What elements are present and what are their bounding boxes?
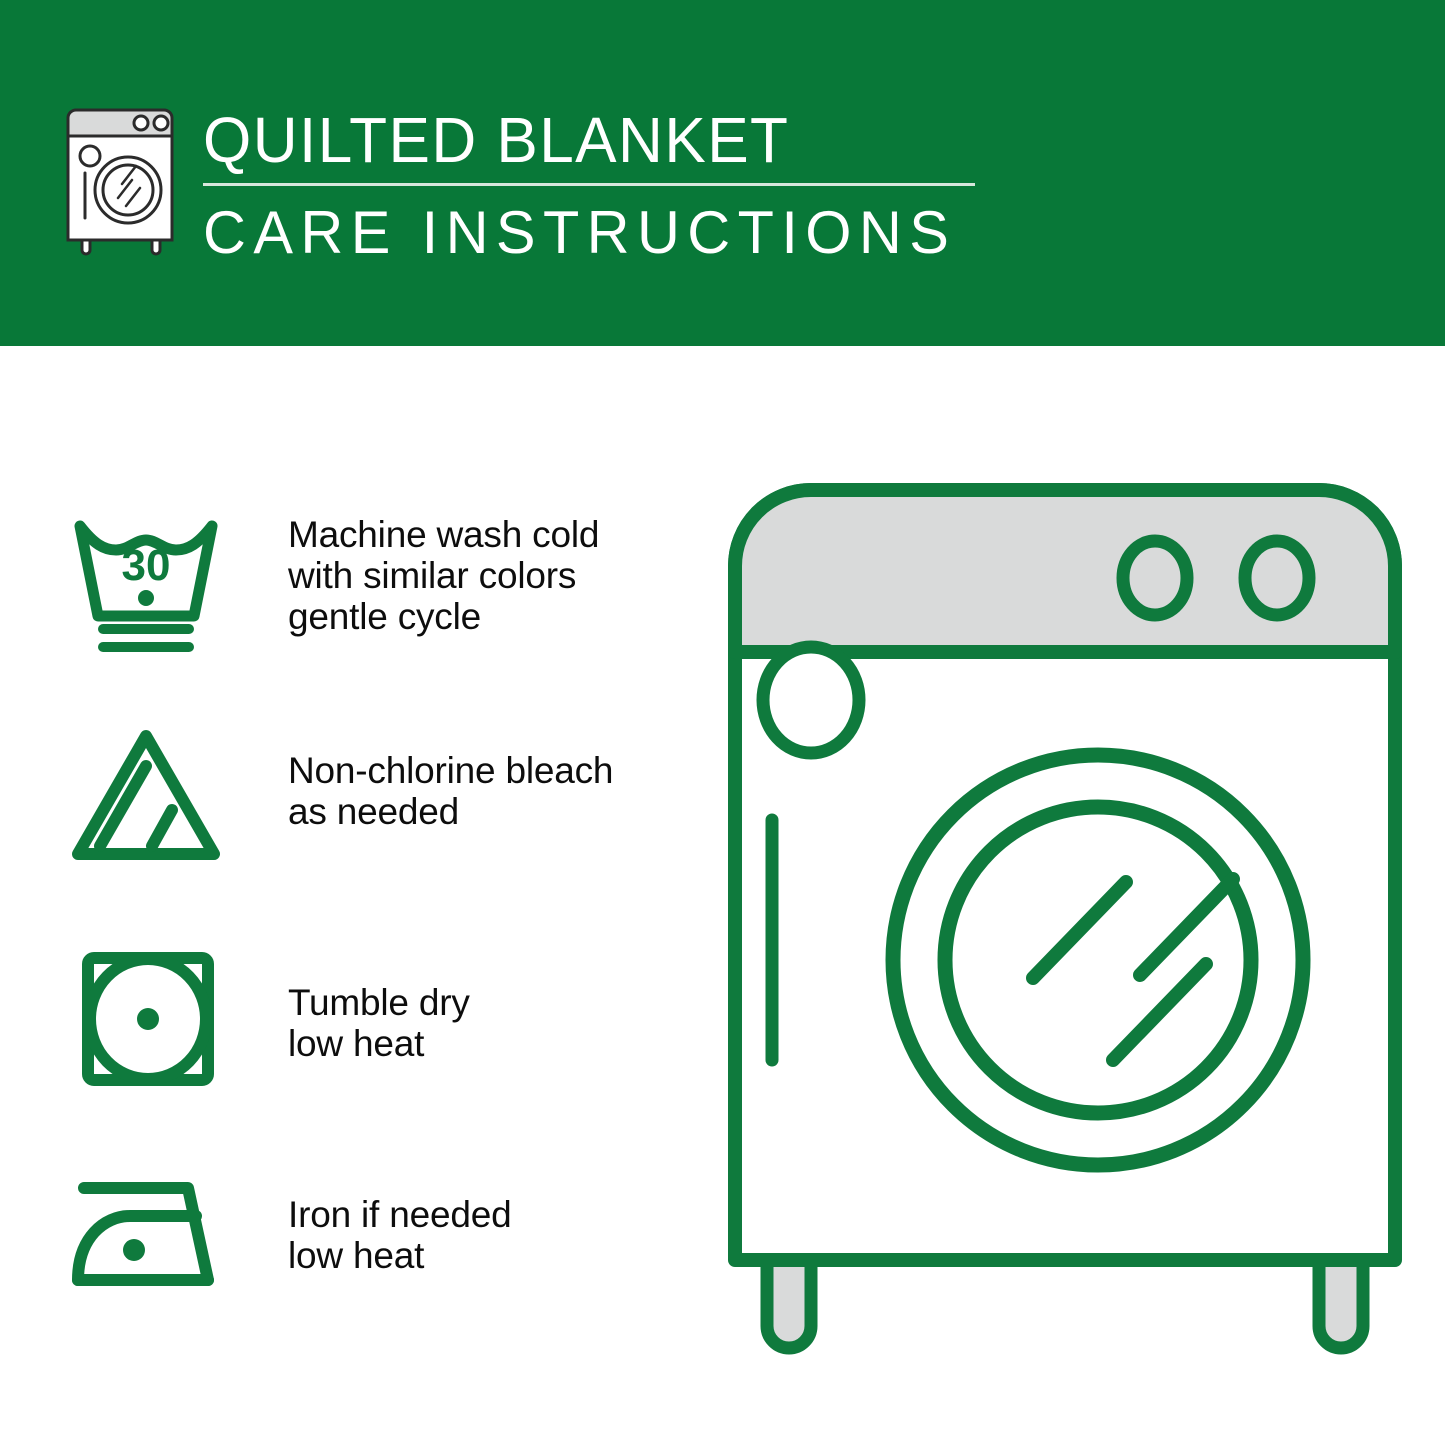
header-title-block: QUILTED BLANKET CARE INSTRUCTIONS — [203, 100, 993, 260]
care-instruction-list: 30 Machine wash cold with similar colors… — [0, 346, 700, 1445]
care-text-iron: Iron if needed low heat — [288, 1194, 511, 1276]
care-text-dry: Tumble dry low heat — [288, 982, 470, 1064]
page-title: QUILTED BLANKET — [203, 100, 969, 180]
care-instructions-page: QUILTED BLANKET CARE INSTRUCTIONS 30 Mac… — [0, 0, 1445, 1445]
tumble-dry-square-icon — [68, 934, 236, 1102]
front-load-washing-machine-illustration — [715, 470, 1415, 1370]
page-subtitle: CARE INSTRUCTIONS — [203, 200, 985, 266]
washing-machine-icon — [62, 106, 184, 256]
header-banner: QUILTED BLANKET CARE INSTRUCTIONS — [0, 0, 1445, 346]
title-divider — [203, 183, 975, 186]
iron-icon — [68, 1146, 236, 1314]
care-text-bleach: Non-chlorine bleach as needed — [288, 750, 613, 832]
non-chlorine-bleach-triangle-icon — [68, 712, 236, 880]
care-text-wash: Machine wash cold with similar colors ge… — [288, 514, 599, 637]
machine-wash-tub-icon: 30 — [68, 498, 236, 666]
wash-temperature-label: 30 — [122, 541, 171, 590]
